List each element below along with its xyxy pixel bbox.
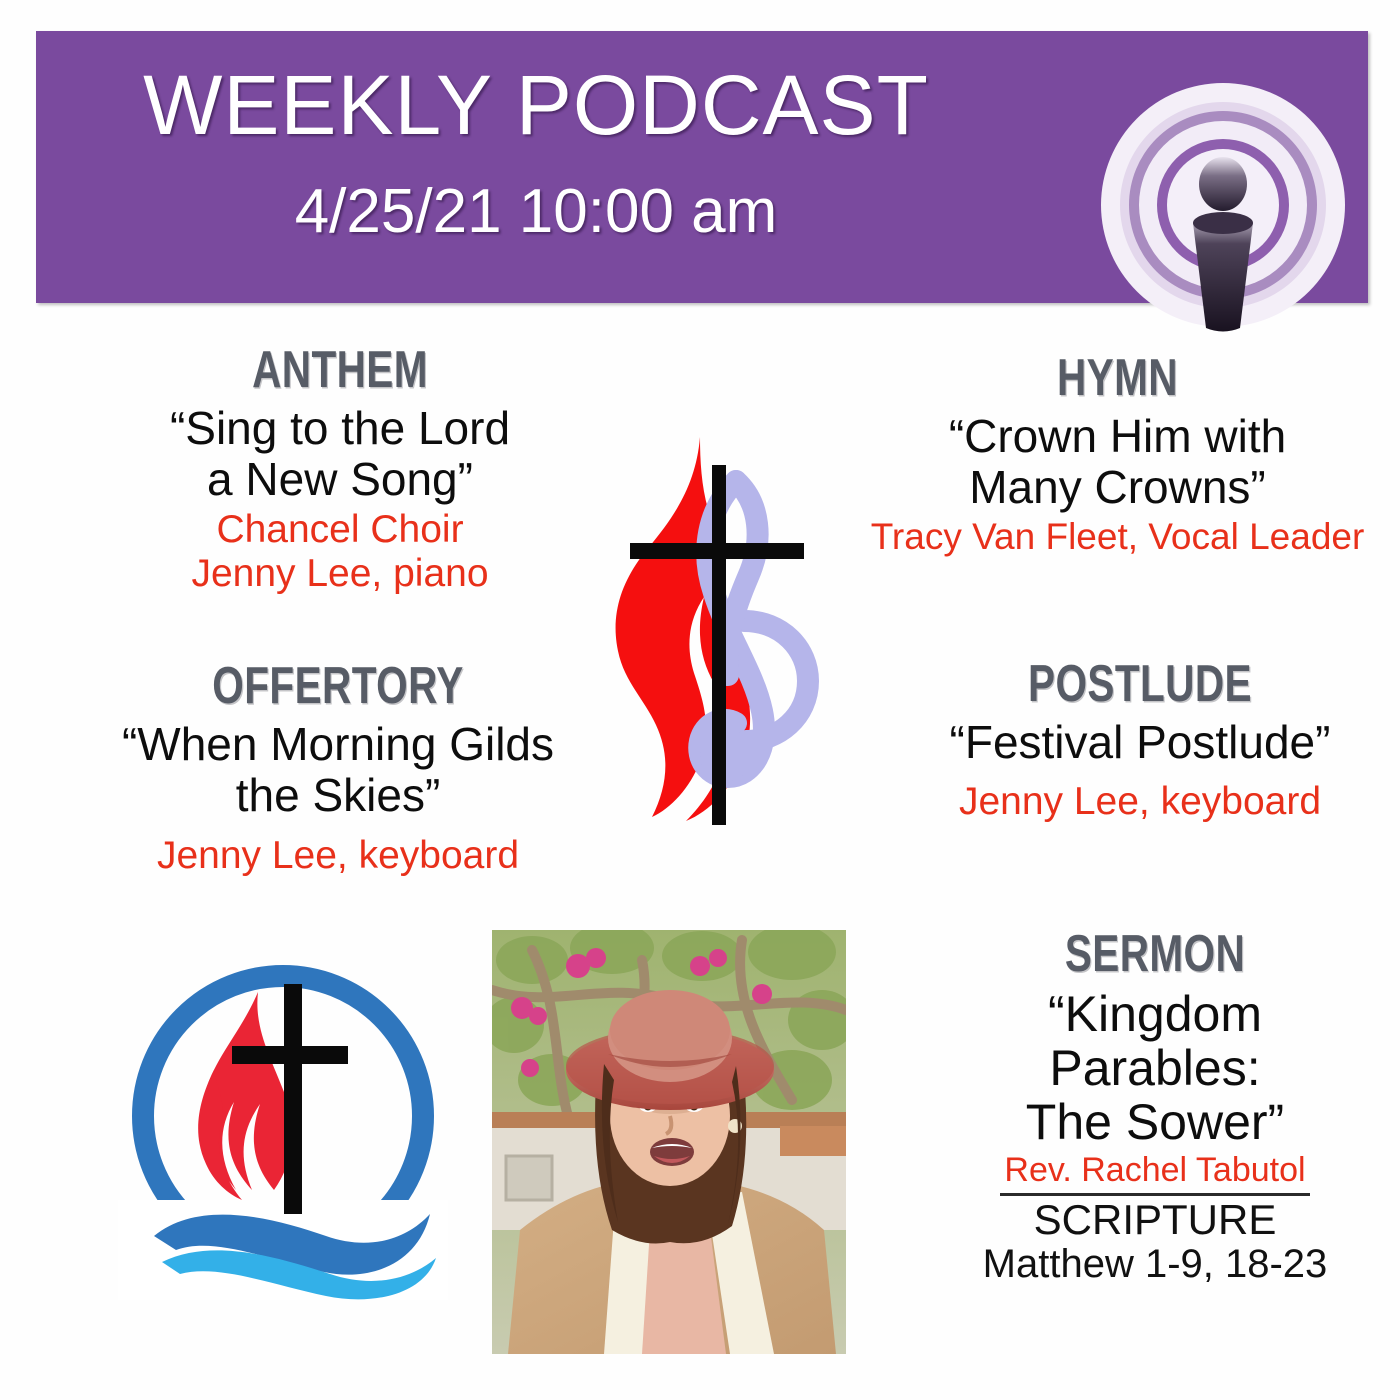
postlude-title-line-1: “Festival Postlude”	[890, 717, 1390, 768]
church-logo-icon	[118, 950, 448, 1300]
cross-flame-treble-clef-icon	[604, 425, 854, 855]
hymn-title: “Crown Him with Many Crowns”	[845, 411, 1390, 512]
offertory-credit: Jenny Lee, keyboard	[48, 834, 628, 878]
sermon-section: SERMON “Kingdom Parables: The Sower” Rev…	[930, 928, 1380, 1286]
hymn-credit: Tracy Van Fleet, Vocal Leader	[845, 516, 1390, 558]
podcast-icon	[1098, 83, 1348, 333]
postlude-credit-line-1: Jenny Lee, keyboard	[890, 780, 1390, 824]
scripture-reference: Matthew 1-9, 18-23	[930, 1243, 1380, 1286]
sermon-heading: SERMON	[980, 928, 1331, 981]
scripture-heading: SCRIPTURE	[930, 1198, 1380, 1242]
anthem-title: “Sing to the Lord a New Song”	[60, 403, 620, 504]
offertory-credit-line-1: Jenny Lee, keyboard	[48, 834, 628, 878]
anthem-credit: Chancel Choir Jenny Lee, piano	[60, 508, 620, 596]
hymn-heading: HYMN	[905, 352, 1330, 405]
pastor-portrait-photo	[492, 930, 846, 1354]
sermon-title-line-2: Parables:	[930, 1041, 1380, 1095]
sermon-title-line-1: “Kingdom	[930, 987, 1380, 1041]
offertory-title-line-1: “When Morning Gilds	[48, 719, 628, 770]
sermon-preacher-name: Rev. Rachel Tabutol	[930, 1151, 1380, 1189]
postlude-title: “Festival Postlude”	[890, 717, 1390, 768]
anthem-section: ANTHEM “Sing to the Lord a New Song” Cha…	[60, 344, 620, 596]
header-banner: WEEKLY PODCAST 4/25/21 10:00 am	[36, 31, 1368, 303]
anthem-credit-line-1: Chancel Choir	[60, 508, 620, 552]
hymn-title-line-1: “Crown Him with	[845, 411, 1390, 462]
broadcast-datetime: 4/25/21 10:00 am	[36, 181, 1036, 243]
page-title: WEEKLY PODCAST	[36, 63, 1036, 147]
postlude-heading: POSTLUDE	[945, 658, 1335, 711]
hymn-title-line-2: Many Crowns”	[845, 462, 1390, 513]
anthem-title-line-2: a New Song”	[60, 454, 620, 505]
anthem-heading: ANTHEM	[122, 344, 559, 397]
postlude-credit: Jenny Lee, keyboard	[890, 780, 1390, 824]
sermon-title: “Kingdom Parables: The Sower”	[930, 987, 1380, 1149]
sermon-title-line-3: The Sower”	[930, 1095, 1380, 1149]
sermon-credit: Rev. Rachel Tabutol	[930, 1151, 1380, 1189]
anthem-credit-line-2: Jenny Lee, piano	[60, 552, 620, 596]
offertory-heading: OFFERTORY	[112, 660, 564, 713]
offertory-title-line-2: the Skies”	[48, 770, 628, 821]
hymn-credit-line-1: Tracy Van Fleet, Vocal Leader	[845, 516, 1390, 558]
hymn-section: HYMN “Crown Him with Many Crowns” Tracy …	[845, 352, 1390, 558]
offertory-title: “When Morning Gilds the Skies”	[48, 719, 628, 820]
anthem-title-line-1: “Sing to the Lord	[60, 403, 620, 454]
postlude-section: POSTLUDE “Festival Postlude” Jenny Lee, …	[890, 658, 1390, 824]
offertory-section: OFFERTORY “When Morning Gilds the Skies”…	[48, 660, 628, 878]
